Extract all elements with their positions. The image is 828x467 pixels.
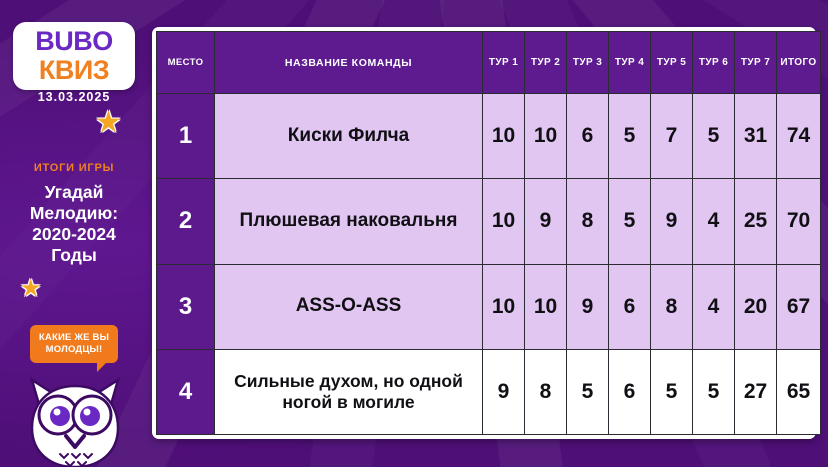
owl-mascot-icon [10,370,140,467]
game-title-line-1: Угадай [0,182,148,203]
praise-line-1: КАКИЕ ЖЕ ВЫ [34,332,114,344]
cell-total: 65 [777,349,821,434]
cell-tour-5: 7 [651,94,693,179]
cell-tour-7: 20 [735,264,777,349]
sidebar: BUBO КВИЗ 13.03.2025 ★ ИТОГИ ИГРЫ Угадай… [0,0,148,467]
table-body: 1 Киски Филча 10 10 6 5 7 5 31 74 2 Плюш… [157,94,821,435]
cell-place: 1 [157,94,215,179]
cell-tour-4: 6 [609,349,651,434]
cell-tour-6: 4 [693,264,735,349]
cell-tour-6: 5 [693,349,735,434]
table-header-row: МЕСТО НАЗВАНИЕ КОМАНДЫ ТУР 1 ТУР 2 ТУР 3… [157,32,821,94]
praise-speech-bubble: КАКИЕ ЖЕ ВЫ МОЛОДЦЫ! [30,325,118,363]
column-header-tour-1: ТУР 1 [483,32,525,94]
cell-total: 74 [777,94,821,179]
cell-tour-7: 27 [735,349,777,434]
game-title-line-4: Годы [0,245,148,266]
cell-tour-4: 5 [609,179,651,264]
cell-tour-3: 8 [567,179,609,264]
column-header-team: НАЗВАНИЕ КОМАНДЫ [215,32,483,94]
column-header-tour-4: ТУР 4 [609,32,651,94]
cell-tour-5: 5 [651,349,693,434]
column-header-tour-7: ТУР 7 [735,32,777,94]
cell-tour-1: 10 [483,94,525,179]
cell-tour-1: 10 [483,264,525,349]
cell-tour-6: 5 [693,94,735,179]
cell-tour-5: 8 [651,264,693,349]
table-row: 2 Плюшевая наковальня 10 9 8 5 9 4 25 70 [157,179,821,264]
results-kicker: ИТОГИ ИГРЫ [0,162,148,174]
game-title: Угадай Мелодию: 2020-2024 Годы [0,182,148,266]
logo-text-bubo: BUBO [35,28,113,55]
star-icon: ★ [95,108,122,138]
cell-team: Плюшевая наковальня [215,179,483,264]
praise-line-2: МОЛОДЦЫ! [34,344,114,356]
cell-tour-6: 4 [693,179,735,264]
cell-tour-1: 10 [483,179,525,264]
scoreboard-panel: МЕСТО НАЗВАНИЕ КОМАНДЫ ТУР 1 ТУР 2 ТУР 3… [152,27,816,439]
cell-total: 67 [777,264,821,349]
cell-place: 2 [157,179,215,264]
cell-tour-2: 9 [525,179,567,264]
column-header-tour-2: ТУР 2 [525,32,567,94]
brand-logo: BUBO КВИЗ [13,22,135,90]
cell-tour-2: 8 [525,349,567,434]
scoreboard-table: МЕСТО НАЗВАНИЕ КОМАНДЫ ТУР 1 ТУР 2 ТУР 3… [156,31,821,435]
cell-tour-4: 6 [609,264,651,349]
game-title-line-3: 2020-2024 [0,224,148,245]
column-header-tour-6: ТУР 6 [693,32,735,94]
cell-team: Киски Филча [215,94,483,179]
cell-tour-2: 10 [525,264,567,349]
table-row: 3 ASS-O-ASS 10 10 9 6 8 4 20 67 [157,264,821,349]
column-header-tour-5: ТУР 5 [651,32,693,94]
cell-tour-4: 5 [609,94,651,179]
cell-tour-7: 31 [735,94,777,179]
cell-tour-3: 6 [567,94,609,179]
cell-tour-7: 25 [735,179,777,264]
star-icon: ★ [20,277,42,301]
game-date: 13.03.2025 [0,90,148,104]
cell-tour-5: 9 [651,179,693,264]
cell-place: 3 [157,264,215,349]
game-title-line-2: Мелодию: [0,203,148,224]
column-header-place: МЕСТО [157,32,215,94]
cell-total: 70 [777,179,821,264]
cell-tour-1: 9 [483,349,525,434]
table-row: 4 Сильные духом, но одной ногой в могиле… [157,349,821,434]
cell-place: 4 [157,349,215,434]
column-header-tour-3: ТУР 3 [567,32,609,94]
cell-tour-2: 10 [525,94,567,179]
table-row: 1 Киски Филча 10 10 6 5 7 5 31 74 [157,94,821,179]
cell-team: ASS-O-ASS [215,264,483,349]
cell-team: Сильные духом, но одной ногой в могиле [215,349,483,434]
cell-tour-3: 5 [567,349,609,434]
table-header: МЕСТО НАЗВАНИЕ КОМАНДЫ ТУР 1 ТУР 2 ТУР 3… [157,32,821,94]
column-header-total: ИТОГО [777,32,821,94]
cell-tour-3: 9 [567,264,609,349]
logo-text-kviz: КВИЗ [39,56,109,84]
